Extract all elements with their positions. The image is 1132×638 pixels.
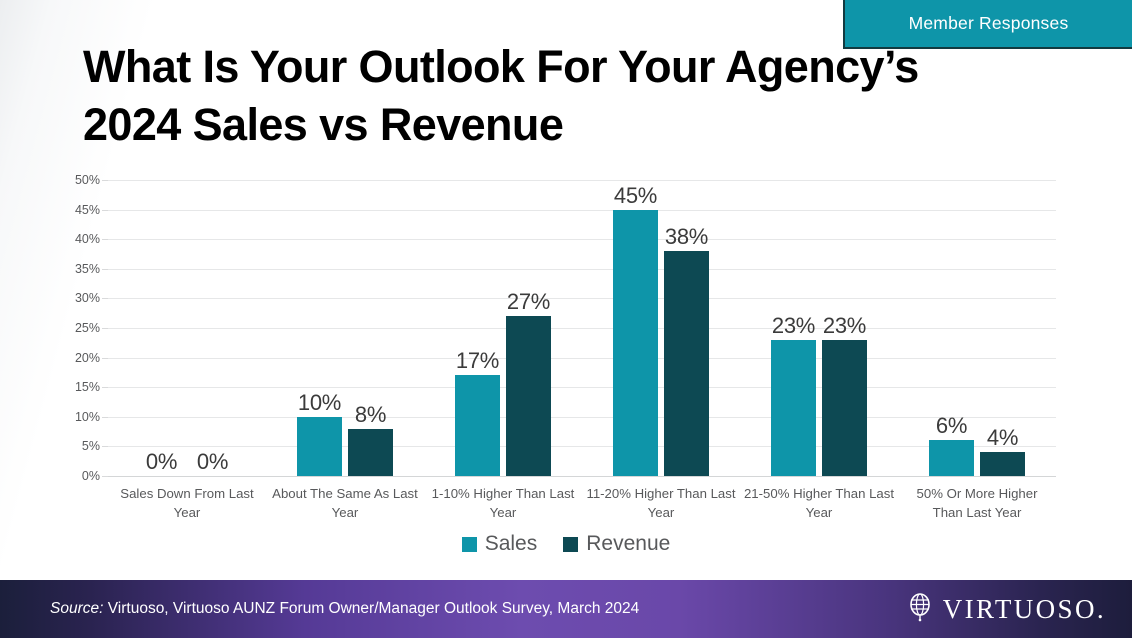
bar-column: 45% [613, 180, 658, 476]
y-axis-tick-label: 25% [56, 321, 100, 335]
bar-chart: 50%45%40%35%30%25%20%15%10%5%0% 0%0%10%8… [0, 166, 1132, 576]
bar-sales [929, 440, 974, 476]
bar-value-label: 23% [772, 313, 815, 339]
source-text: Virtuoso, Virtuoso AUNZ Forum Owner/Mana… [103, 600, 639, 617]
bar-value-label: 4% [987, 425, 1018, 451]
bar-value-label: 0% [146, 449, 177, 475]
y-axis-tick-label: 10% [56, 410, 100, 424]
y-axis-tick-label: 0% [56, 469, 100, 483]
slide-canvas: Member Responses What Is Your Outlook Fo… [0, 0, 1132, 638]
x-axis-category-label: 11-20% Higher Than Last Year [582, 484, 740, 522]
source-note: Source: Virtuoso, Virtuoso AUNZ Forum Ow… [50, 600, 639, 618]
x-axis-category-label: About The Same As Last Year [266, 484, 424, 522]
y-axis-tick-label: 35% [56, 262, 100, 276]
x-axis-category-label: Sales Down From Last Year [108, 484, 266, 522]
axis-baseline [108, 476, 1056, 477]
bar-sales [455, 375, 500, 476]
page-title-line-2: 2024 Sales vs Revenue [83, 96, 1023, 154]
bar-column: 0% [190, 180, 235, 476]
bar-column: 38% [664, 180, 709, 476]
bar-group: 17%27% [424, 180, 582, 476]
bar-column: 17% [455, 180, 500, 476]
bar-group: 23%23% [740, 180, 898, 476]
bar-groups: 0%0%10%8%17%27%45%38%23%23%6%4% [108, 180, 1056, 476]
bar-column: 27% [506, 180, 551, 476]
bar-column: 0% [139, 180, 184, 476]
bar-revenue [664, 251, 709, 476]
bar-pair: 6%4% [898, 180, 1056, 476]
bar-value-label: 17% [456, 348, 499, 374]
y-axis-tick-label: 5% [56, 439, 100, 453]
y-axis-tick-label: 30% [56, 291, 100, 305]
bar-revenue [980, 452, 1025, 476]
bar-value-label: 6% [936, 413, 967, 439]
bar-value-label: 27% [507, 289, 550, 315]
bar-value-label: 23% [823, 313, 866, 339]
y-axis-tick-label: 50% [56, 173, 100, 187]
bar-value-label: 38% [665, 224, 708, 250]
bar-pair: 45%38% [582, 180, 740, 476]
bar-column: 6% [929, 180, 974, 476]
bar-pair: 23%23% [740, 180, 898, 476]
bar-revenue [506, 316, 551, 476]
brand-name: VIRTUOSO. [943, 594, 1106, 625]
member-responses-badge-label: Member Responses [909, 13, 1069, 34]
bar-revenue [822, 340, 867, 476]
bar-value-label: 45% [614, 183, 657, 209]
legend-swatch-icon [563, 537, 578, 552]
bar-column: 4% [980, 180, 1025, 476]
source-label: Source: [50, 600, 103, 617]
bar-column: 23% [771, 180, 816, 476]
bar-group: 6%4% [898, 180, 1056, 476]
legend-item-revenue[interactable]: Revenue [563, 532, 670, 556]
y-axis-tick-label: 45% [56, 203, 100, 217]
bar-group: 45%38% [582, 180, 740, 476]
x-axis-category-label: 21-50% Higher Than Last Year [740, 484, 898, 522]
bar-sales [613, 210, 658, 476]
x-axis: Sales Down From Last YearAbout The Same … [108, 484, 1056, 522]
bar-column: 10% [297, 180, 342, 476]
bar-group: 0%0% [108, 180, 266, 476]
bar-sales [771, 340, 816, 476]
legend-swatch-icon [462, 537, 477, 552]
legend-label: Sales [485, 532, 538, 556]
bar-group: 10%8% [266, 180, 424, 476]
virtuoso-logo: VIRTUOSO. [907, 592, 1106, 627]
y-axis-tick-label: 40% [56, 232, 100, 246]
chart-legend: SalesRevenue [0, 532, 1132, 556]
bar-pair: 10%8% [266, 180, 424, 476]
bar-value-label: 0% [197, 449, 228, 475]
bar-column: 8% [348, 180, 393, 476]
globe-icon [907, 592, 933, 627]
bar-revenue [348, 429, 393, 476]
bar-value-label: 8% [355, 402, 386, 428]
y-axis-tick-label: 20% [56, 351, 100, 365]
x-axis-category-label: 50% Or More Higher Than Last Year [898, 484, 1056, 522]
legend-item-sales[interactable]: Sales [462, 532, 538, 556]
bar-pair: 17%27% [424, 180, 582, 476]
bar-pair: 0%0% [108, 180, 266, 476]
footer-bar: Source: Virtuoso, Virtuoso AUNZ Forum Ow… [0, 580, 1132, 638]
page-title: What Is Your Outlook For Your Agency’s 2… [83, 38, 1023, 153]
x-axis-category-label: 1-10% Higher Than Last Year [424, 484, 582, 522]
bar-sales [297, 417, 342, 476]
page-title-line-1: What Is Your Outlook For Your Agency’s [83, 38, 1023, 96]
bar-value-label: 10% [298, 390, 341, 416]
bar-column: 23% [822, 180, 867, 476]
legend-label: Revenue [586, 532, 670, 556]
y-axis-tick-label: 15% [56, 380, 100, 394]
